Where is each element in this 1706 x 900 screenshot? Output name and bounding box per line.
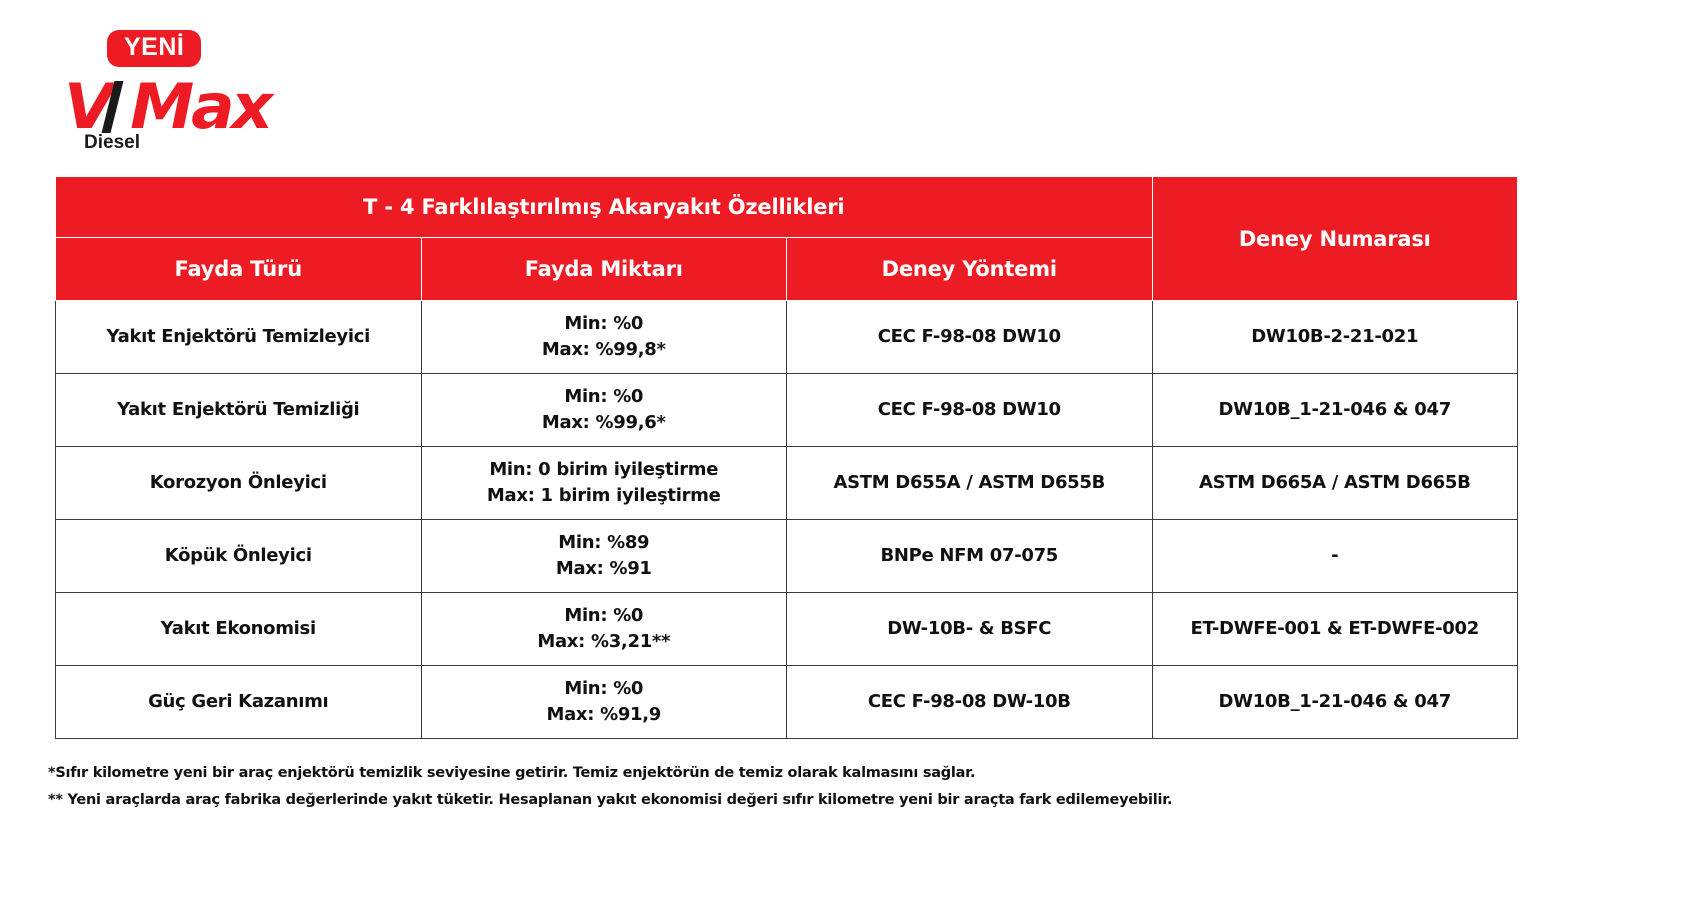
cell-method: DW-10B- & BSFC bbox=[787, 593, 1153, 666]
table-row: Korozyon Önleyici Min: 0 birim iyileştir… bbox=[56, 447, 1518, 520]
cell-amount-min: Min: %0 bbox=[422, 603, 787, 629]
cell-amount-max: Max: %91 bbox=[422, 556, 787, 582]
cell-benefit: Güç Geri Kazanımı bbox=[56, 666, 422, 739]
cell-benefit: Yakıt Ekonomisi bbox=[56, 593, 422, 666]
column-header-deney-yontemi: Deney Yöntemi bbox=[787, 238, 1153, 301]
cell-amount: Min: %89 Max: %91 bbox=[421, 520, 787, 593]
cell-experiment: DW10B_1-21-046 & 047 bbox=[1152, 374, 1518, 447]
column-header-fayda-turu: Fayda Türü bbox=[56, 238, 422, 301]
cell-amount: Min: %0 Max: %91,9 bbox=[421, 666, 787, 739]
spec-table-container: T - 4 Farklılaştırılmış Akaryakıt Özelli… bbox=[55, 176, 1518, 739]
footnote-double-asterisk: ** Yeni araçlarda araç fabrika değerleri… bbox=[48, 787, 1448, 814]
cell-amount-max: Max: %99,8* bbox=[422, 337, 787, 363]
cell-benefit: Yakıt Enjektörü Temizliği bbox=[56, 374, 422, 447]
cell-method: CEC F-98-08 DW10 bbox=[787, 301, 1153, 374]
cell-benefit: Korozyon Önleyici bbox=[56, 447, 422, 520]
column-header-fayda-miktari: Fayda Miktarı bbox=[421, 238, 787, 301]
cell-experiment: - bbox=[1152, 520, 1518, 593]
cell-experiment: DW10B_1-21-046 & 047 bbox=[1152, 666, 1518, 739]
cell-method: BNPe NFM 07-075 bbox=[787, 520, 1153, 593]
cell-amount: Min: %0 Max: %99,8* bbox=[421, 301, 787, 374]
yeni-badge: YENİ bbox=[107, 30, 201, 67]
cell-amount: Min: %0 Max: %3,21** bbox=[421, 593, 787, 666]
cell-method: ASTM D655A / ASTM D655B bbox=[787, 447, 1153, 520]
cell-experiment: ET-DWFE-001 & ET-DWFE-002 bbox=[1152, 593, 1518, 666]
table-row: Güç Geri Kazanımı Min: %0 Max: %91,9 CEC… bbox=[56, 666, 1518, 739]
cell-amount: Min: %0 Max: %99,6* bbox=[421, 374, 787, 447]
column-header-deney-numarasi: Deney Numarası bbox=[1152, 177, 1518, 301]
cell-amount: Min: 0 birim iyileştirme Max: 1 birim iy… bbox=[421, 447, 787, 520]
footnotes-block: *Sıfır kilometre yeni bir araç enjektörü… bbox=[48, 760, 1448, 814]
brand-logo: YENİ V Max Diesel bbox=[64, 30, 294, 143]
fuel-spec-table: T - 4 Farklılaştırılmış Akaryakıt Özelli… bbox=[55, 176, 1518, 739]
diesel-subtitle: Diesel bbox=[84, 133, 140, 152]
cell-amount-min: Min: %89 bbox=[422, 530, 787, 556]
table-head: T - 4 Farklılaştırılmış Akaryakıt Özelli… bbox=[56, 177, 1518, 301]
cell-amount-min: Min: 0 birim iyileştirme bbox=[422, 457, 787, 483]
table-row: Köpük Önleyici Min: %89 Max: %91 BNPe NF… bbox=[56, 520, 1518, 593]
yeni-badge-label: YENİ bbox=[124, 35, 184, 60]
cell-experiment: ASTM D665A / ASTM D665B bbox=[1152, 447, 1518, 520]
table-row: Yakıt Enjektörü Temizliği Min: %0 Max: %… bbox=[56, 374, 1518, 447]
cell-experiment: DW10B-2-21-021 bbox=[1152, 301, 1518, 374]
table-body: Yakıt Enjektörü Temizleyici Min: %0 Max:… bbox=[56, 301, 1518, 739]
cell-benefit: Köpük Önleyici bbox=[56, 520, 422, 593]
vmax-wordmark: V Max Diesel bbox=[64, 71, 294, 143]
cell-method: CEC F-98-08 DW-10B bbox=[787, 666, 1153, 739]
cell-amount-max: Max: %91,9 bbox=[422, 702, 787, 728]
table-row: Yakıt Ekonomisi Min: %0 Max: %3,21** DW-… bbox=[56, 593, 1518, 666]
table-row: Yakıt Enjektörü Temizleyici Min: %0 Max:… bbox=[56, 301, 1518, 374]
table-header-row-group: T - 4 Farklılaştırılmış Akaryakıt Özelli… bbox=[56, 177, 1518, 238]
cell-amount-min: Min: %0 bbox=[422, 384, 787, 410]
cell-amount-min: Min: %0 bbox=[422, 676, 787, 702]
cell-method: CEC F-98-08 DW10 bbox=[787, 374, 1153, 447]
cell-amount-min: Min: %0 bbox=[422, 311, 787, 337]
footnote-single-asterisk: *Sıfır kilometre yeni bir araç enjektörü… bbox=[48, 760, 1448, 787]
cell-benefit: Yakıt Enjektörü Temizleyici bbox=[56, 301, 422, 374]
cell-amount-max: Max: 1 birim iyileştirme bbox=[422, 483, 787, 509]
cell-amount-max: Max: %99,6* bbox=[422, 410, 787, 436]
group-header-title: T - 4 Farklılaştırılmış Akaryakıt Özelli… bbox=[56, 177, 1153, 238]
cell-amount-max: Max: %3,21** bbox=[422, 629, 787, 655]
